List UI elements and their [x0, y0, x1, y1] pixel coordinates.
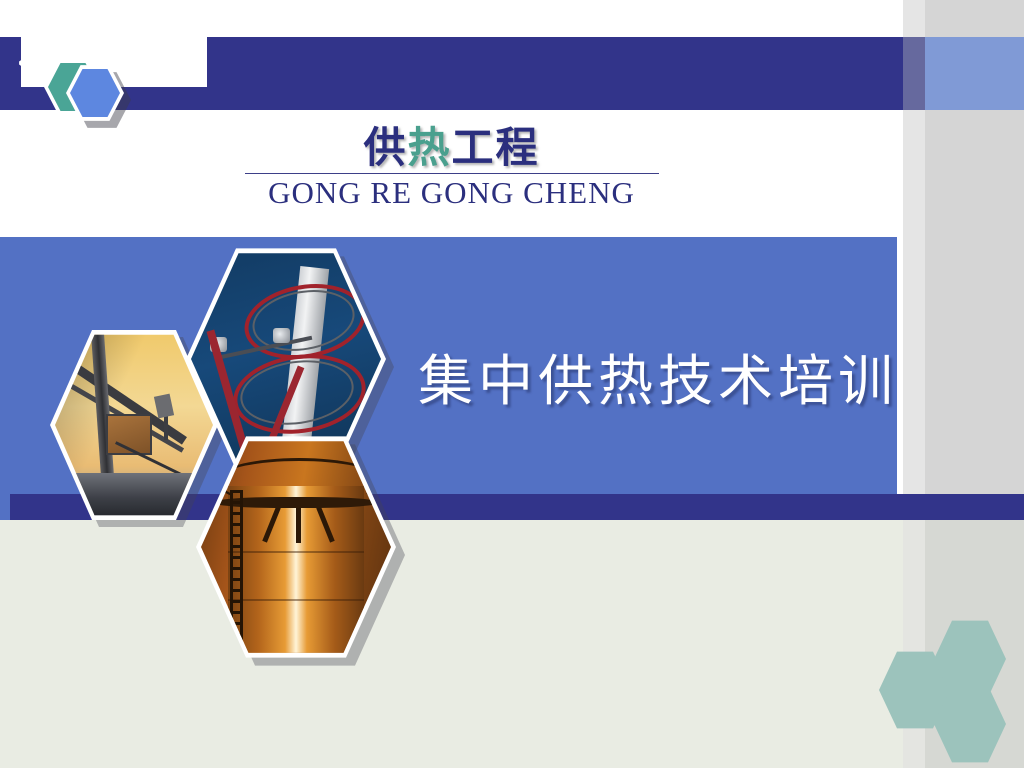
- english-subtitle: GONG RE GONG CHENG: [0, 175, 903, 211]
- tank-seam-upper: [228, 551, 365, 553]
- header-band-overlay-light: [903, 37, 925, 110]
- header-band-overlay-periwinkle: [925, 37, 1024, 110]
- tank-seam-lower: [228, 599, 365, 601]
- title-block: 供热工程 GONG RE GONG CHENG: [0, 126, 903, 211]
- presentation-slide: 供热工程 GONG RE GONG CHENG 集中供热技术培训: [0, 0, 1024, 768]
- title-divider-rule: [245, 173, 659, 174]
- bottom-background-panel: [0, 520, 1024, 768]
- chinese-title-part2: 热: [407, 123, 451, 172]
- chinese-title-part1: 供: [363, 123, 407, 172]
- tank-railing: [220, 458, 378, 505]
- mast-lamp-right: [273, 328, 290, 343]
- header-navy-bottom-strip: [0, 87, 903, 110]
- slide-headline: 集中供热技术培训: [418, 336, 898, 416]
- tank-brace-center: [296, 506, 301, 543]
- blue-band-left-tail: [0, 494, 10, 520]
- chinese-title-part3: 工程: [452, 123, 540, 172]
- chinese-title: 供热工程: [0, 126, 903, 170]
- crane-hook: [154, 394, 174, 419]
